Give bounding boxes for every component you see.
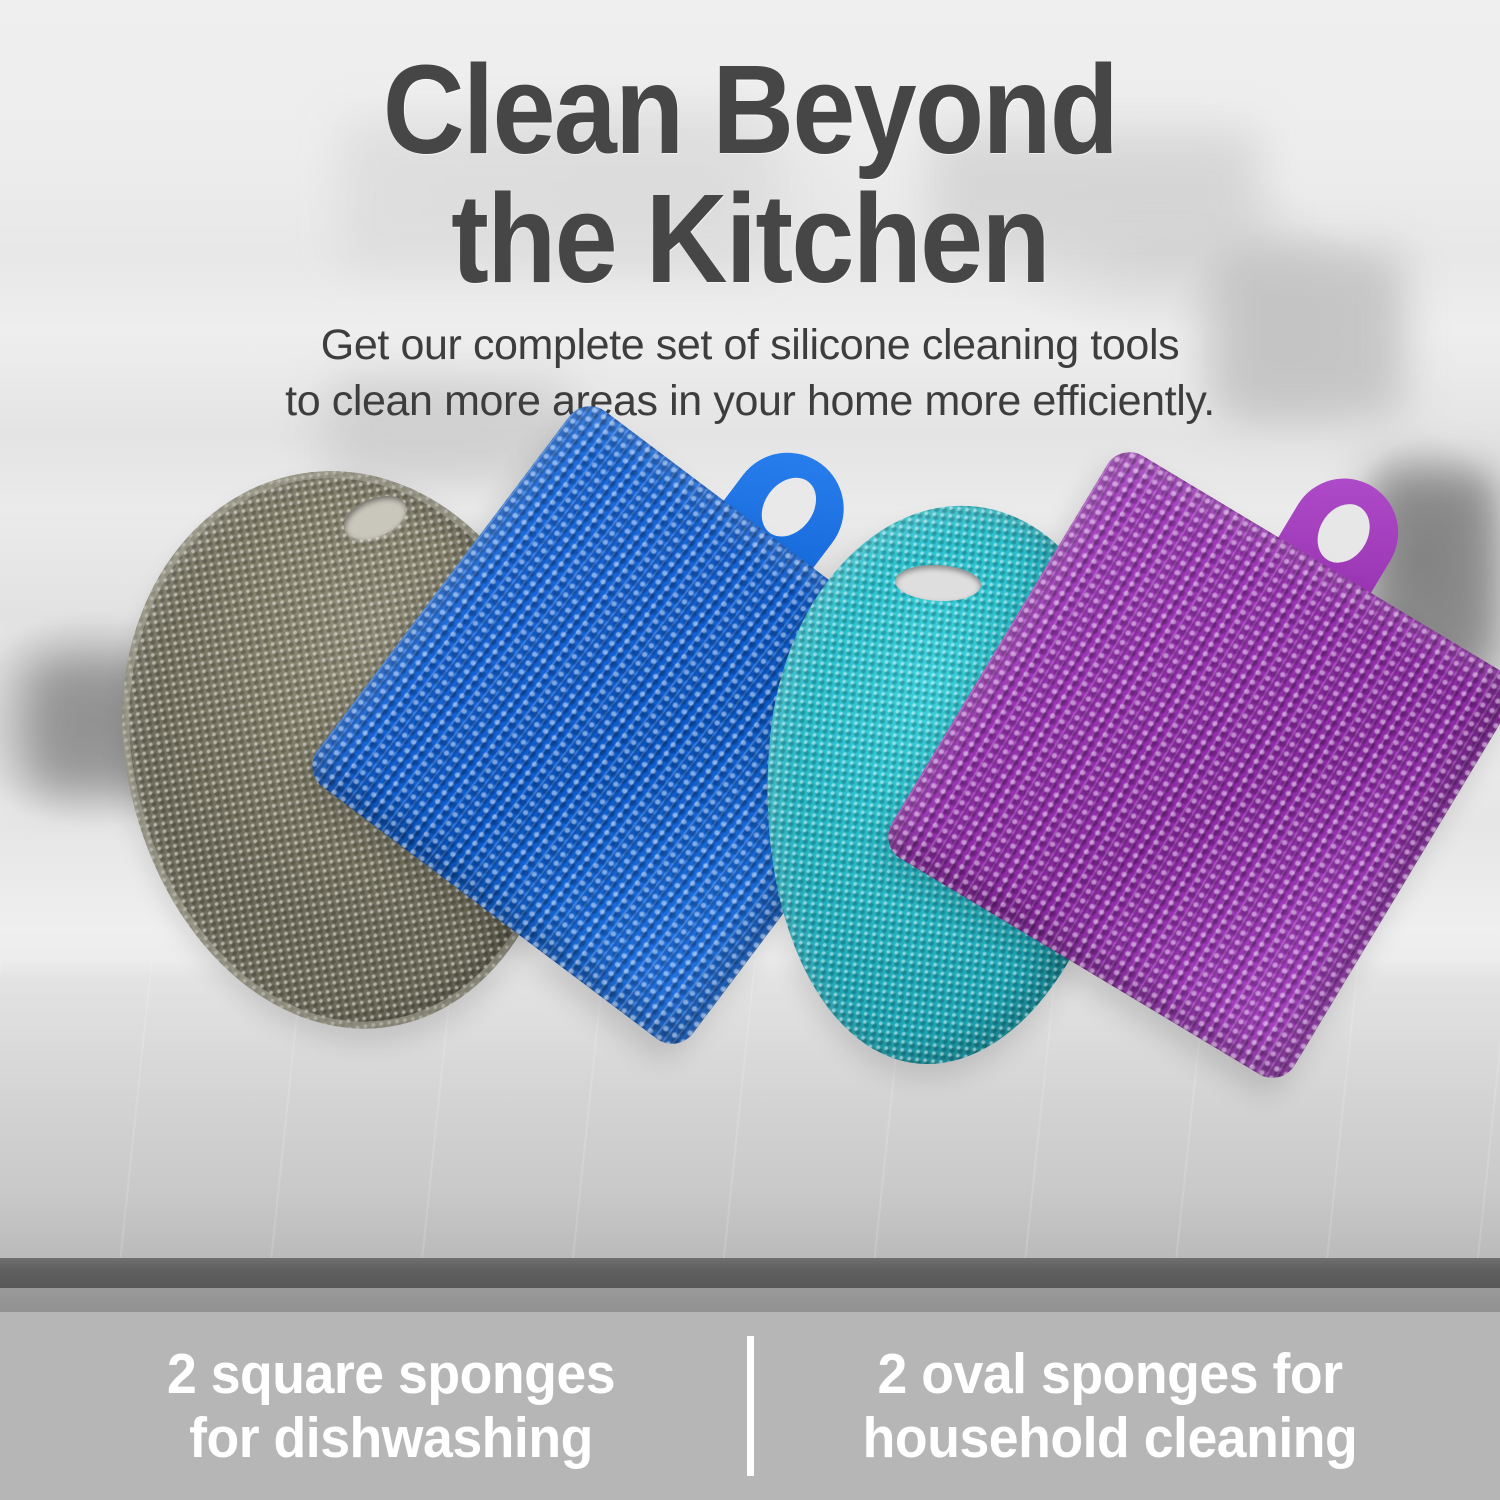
caption-bar: 2 square sponges for dishwashing 2 oval … (0, 1312, 1500, 1500)
caption-left-line-2: for dishwashing (62, 1406, 720, 1470)
product-marketing-image: Clean Beyond the Kitchen Get our complet… (0, 0, 1500, 1500)
headline-line-1: Clean Beyond (383, 39, 1118, 180)
countertop-front-edge (0, 1258, 1500, 1288)
caption-right: 2 oval sponges for household cleaning (781, 1342, 1439, 1471)
caption-divider (747, 1336, 754, 1476)
countertop-shadow-band (0, 1288, 1500, 1312)
caption-right-line-1: 2 oval sponges for (781, 1342, 1439, 1406)
caption-left: 2 square sponges for dishwashing (62, 1342, 720, 1471)
subtitle-line-1: Get our complete set of silicone cleanin… (0, 318, 1500, 374)
caption-right-line-2: household cleaning (781, 1406, 1439, 1470)
subtitle-line-2: to clean more areas in your home more ef… (0, 374, 1500, 430)
headline: Clean Beyond the Kitchen (75, 46, 1425, 303)
headline-line-2: the Kitchen (75, 175, 1425, 304)
subtitle: Get our complete set of silicone cleanin… (0, 318, 1500, 430)
caption-left-line-1: 2 square sponges (62, 1342, 720, 1406)
